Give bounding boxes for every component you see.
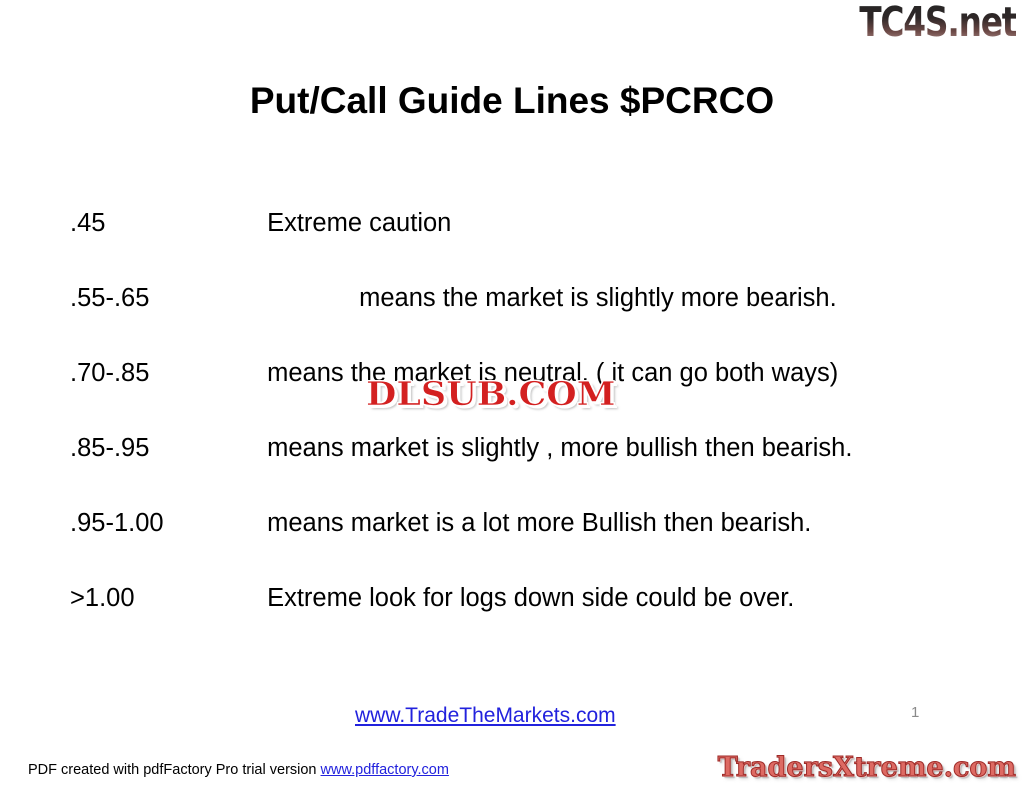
guide-description: means market is a lot more Bullish then … xyxy=(267,509,811,537)
guide-row: >1.00 Extreme look for logs down side co… xyxy=(70,578,970,618)
pdf-footer: PDF created with pdfFactory Pro trial ve… xyxy=(28,762,449,778)
dlsub-watermark: DLSUB.COM xyxy=(366,377,615,411)
slide-page: TC4S.net Put/Call Guide Lines $PCRCO .45… xyxy=(0,0,1024,791)
guide-description: means market is slightly , more bullish … xyxy=(267,434,852,462)
guide-range: .55-.65 xyxy=(70,278,352,318)
tc4s-logo: TC4S.net xyxy=(859,2,1016,43)
page-number: 1 xyxy=(911,704,919,721)
guide-range: .70-.85 xyxy=(70,353,260,393)
guide-range: .45 xyxy=(70,203,260,243)
guide-range: >1.00 xyxy=(70,578,260,618)
tradersxtreme-logo: TradersXtreme.com xyxy=(718,753,1016,783)
guide-range: .85-.95 xyxy=(70,428,260,468)
guide-row: .85-.95 means market is slightly , more … xyxy=(70,428,970,468)
guide-description: means the market is slightly more bearis… xyxy=(359,284,837,312)
pdffactory-link[interactable]: www.pdffactory.com xyxy=(321,762,449,778)
guide-row: .45 Extreme caution xyxy=(70,203,970,243)
tradethemarkets-link[interactable]: www.TradeTheMarkets.com xyxy=(355,704,616,728)
guide-description: Extreme look for logs down side could be… xyxy=(267,584,794,612)
pdf-footer-text: PDF created with pdfFactory Pro trial ve… xyxy=(28,762,321,778)
page-title: Put/Call Guide Lines $PCRCO xyxy=(0,80,1024,122)
guide-row: .95-1.00 means market is a lot more Bull… xyxy=(70,503,970,543)
guide-description: Extreme caution xyxy=(267,209,451,237)
guide-row: .55-.65 means the market is slightly mor… xyxy=(70,278,970,318)
guide-range: .95-1.00 xyxy=(70,503,260,543)
